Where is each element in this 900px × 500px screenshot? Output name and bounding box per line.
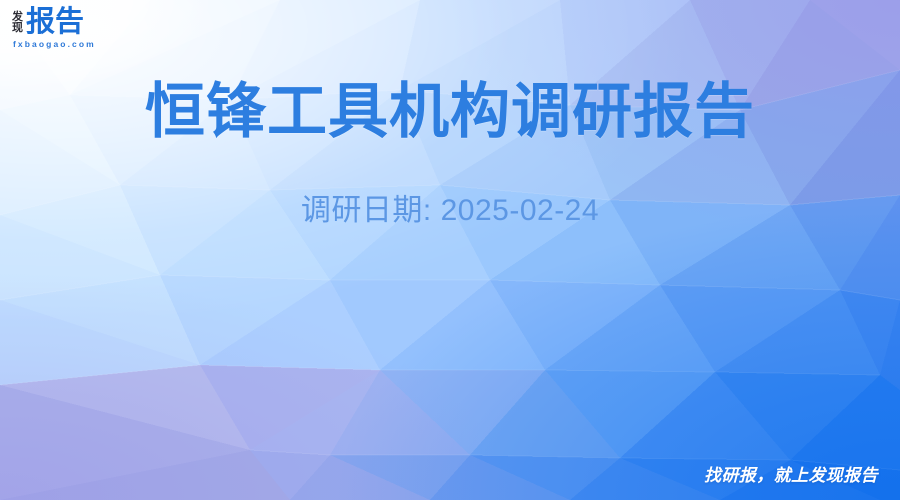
report-cover: 发 现 报告 fxbaogao.com 恒锋工具机构调研报告 调研日期: 202… xyxy=(0,0,900,500)
logo-wordmark: 报告 xyxy=(26,9,84,37)
footer-tagline: 找研报，就上发现报告 xyxy=(704,461,878,486)
polygon-background xyxy=(0,0,900,500)
logo-mark-stacked: 发 现 xyxy=(12,12,23,36)
logo-mark-char-2: 现 xyxy=(12,23,23,34)
site-logo[interactable]: 发 现 报告 fxbaogao.com xyxy=(12,9,96,48)
logo-url: fxbaogao.com xyxy=(13,40,96,49)
logo-wordmark-row: 发 现 报告 xyxy=(12,9,84,37)
